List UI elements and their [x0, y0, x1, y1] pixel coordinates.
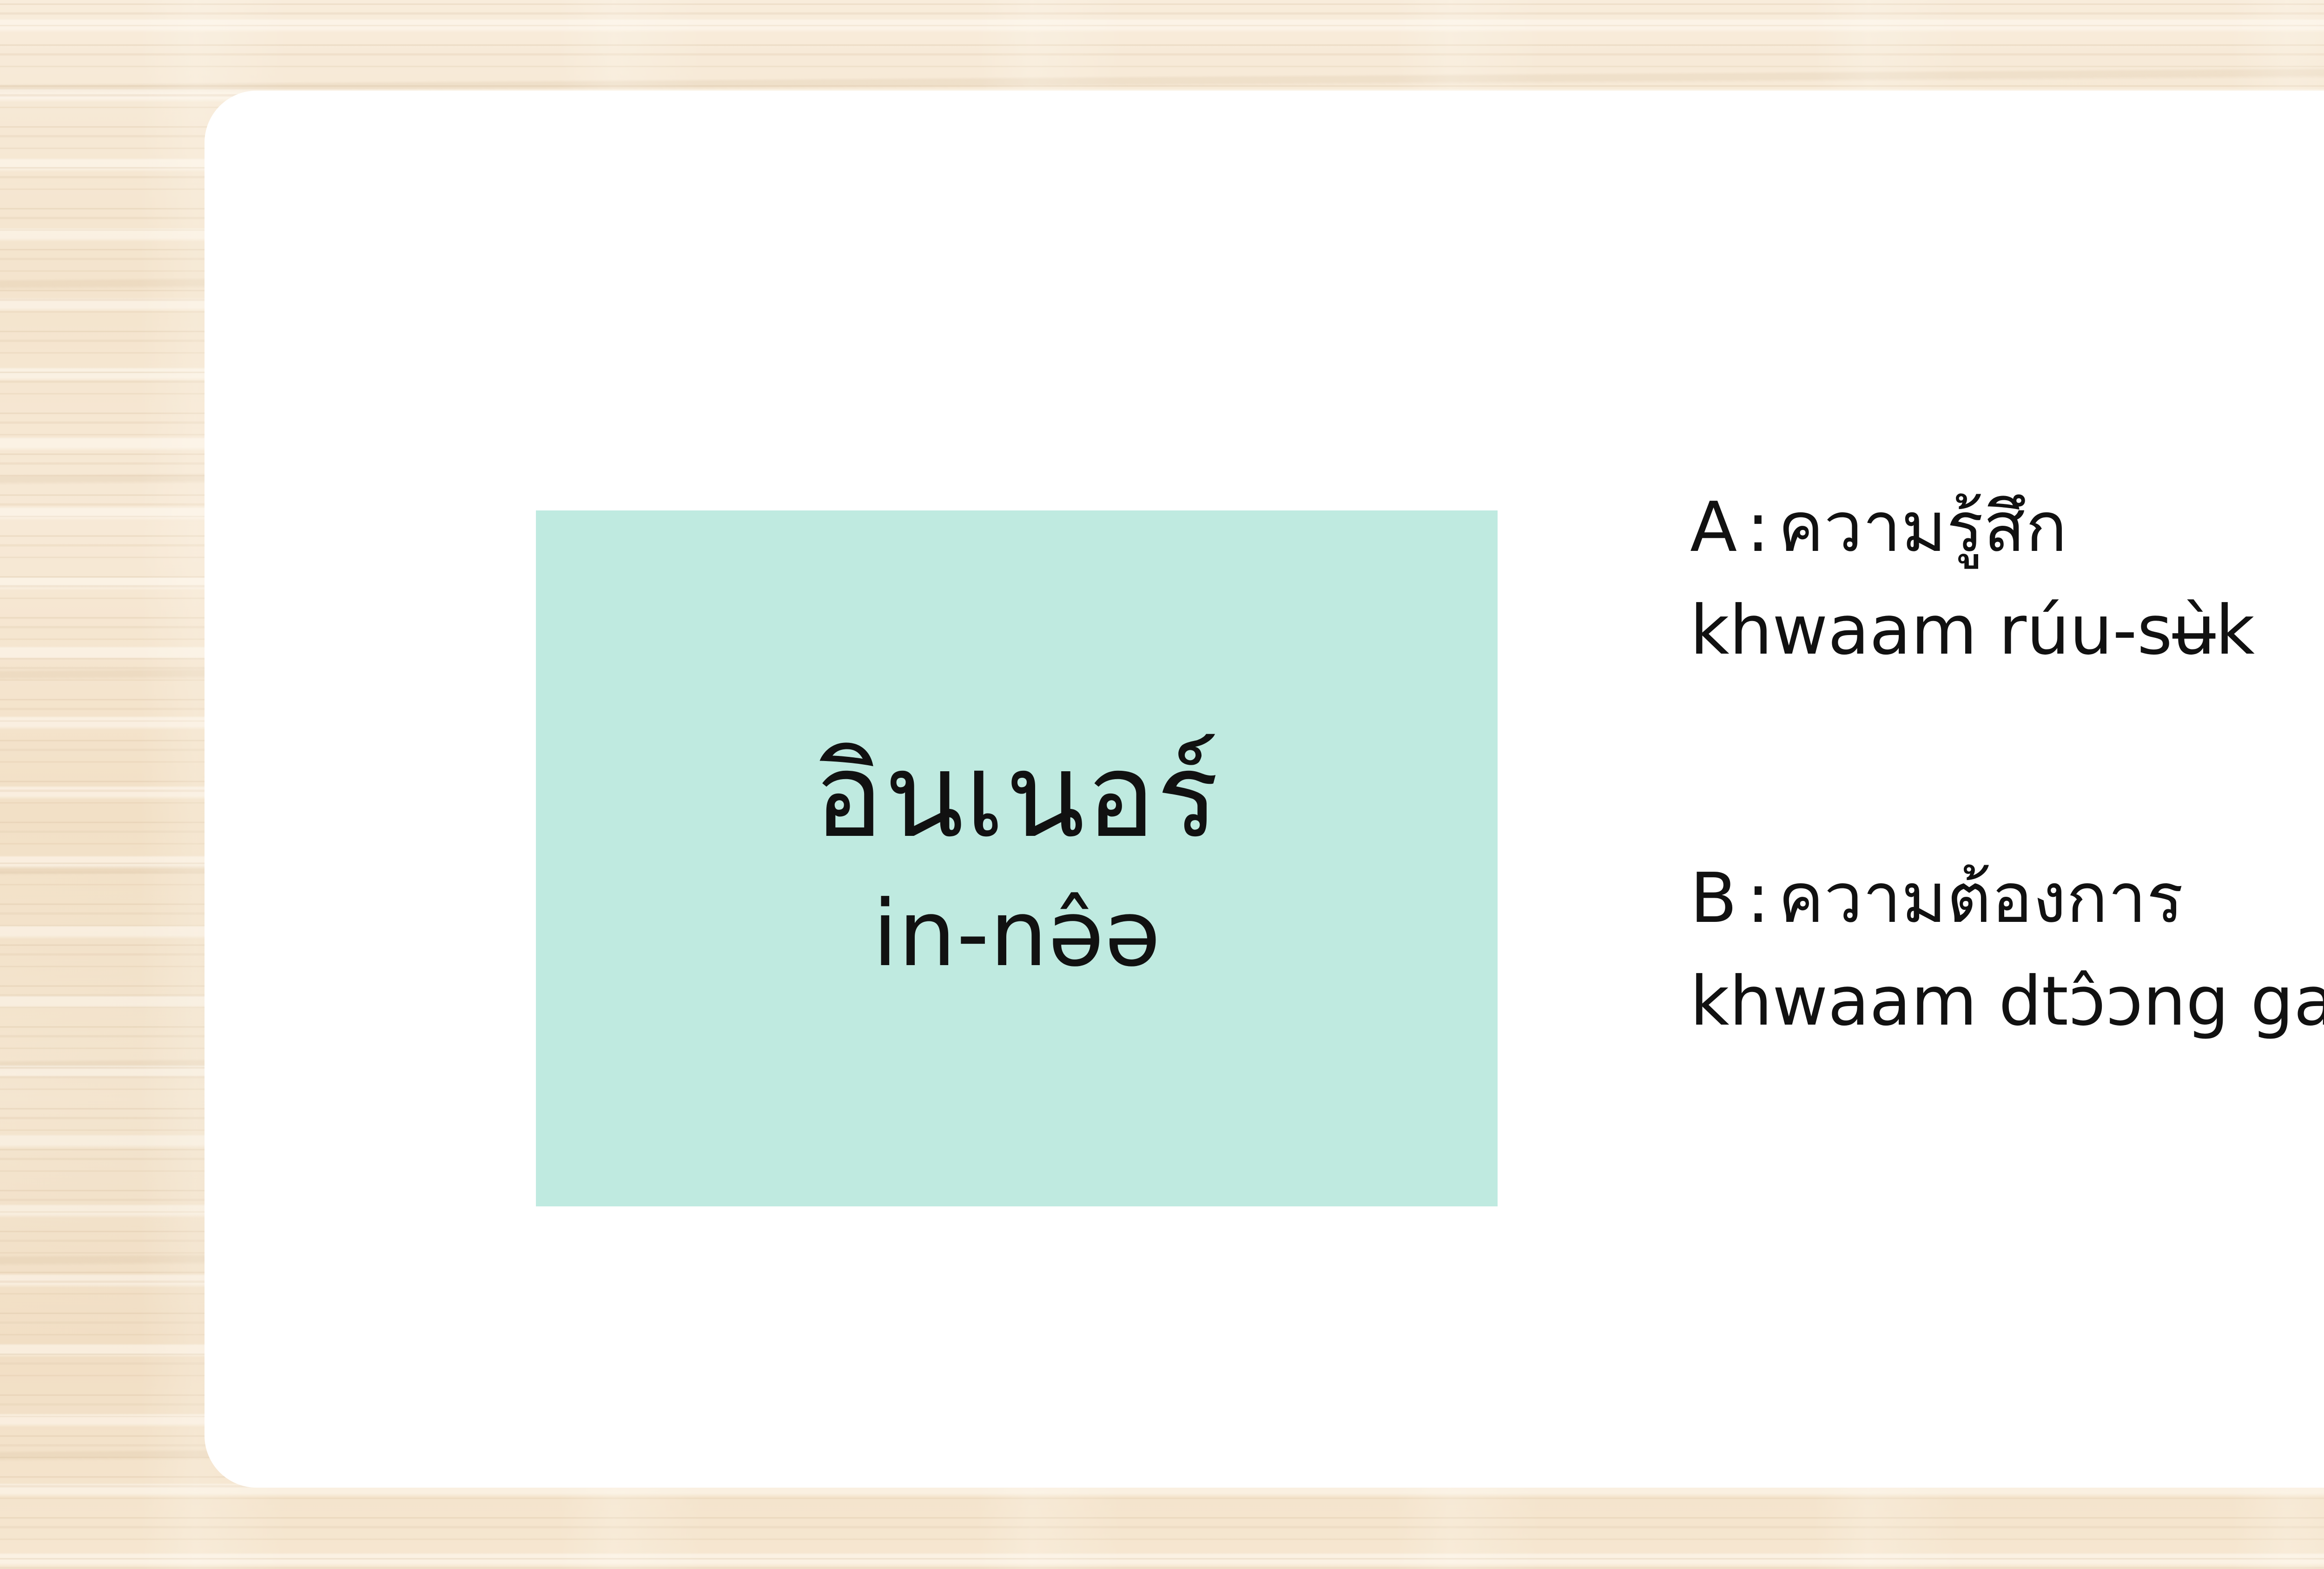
- flashcard-stage: อินเนอร์ in-nə̂ə A:ความรู้สึก khwaam rúu…: [0, 0, 2324, 1569]
- answer-choice-b[interactable]: B:ความต้องการ khwaam dtɔ̂ɔng gaan: [1690, 852, 2324, 1047]
- vocabulary-word-panel: อินเนอร์ in-nə̂ə: [536, 510, 1498, 1206]
- answer-choice-b-thai-line: B:ความต้องการ: [1690, 852, 2324, 944]
- vocabulary-word-romanization: in-nə̂ə: [872, 888, 1161, 980]
- answer-choice-a-key: A: [1690, 487, 1737, 567]
- answer-choice-b-separator: :: [1737, 858, 1778, 938]
- answer-choice-b-thai: ความต้องการ: [1778, 858, 2183, 938]
- answer-choices-list: A:ความรู้สึก khwaam rúu-sʉ̀k B:ความต้องก…: [1690, 481, 2324, 1047]
- flashcard-panel: อินเนอร์ in-nə̂ə A:ความรู้สึก khwaam rúu…: [205, 91, 2324, 1488]
- answer-choice-a-thai-line: A:ความรู้สึก: [1690, 481, 2324, 573]
- answer-choice-a[interactable]: A:ความรู้สึก khwaam rúu-sʉ̀k: [1690, 481, 2324, 676]
- answer-choice-a-separator: :: [1737, 487, 1778, 567]
- answer-choice-a-romanization: khwaam rúu-sʉ̀k: [1690, 585, 2324, 676]
- vocabulary-word-thai: อินเนอร์: [814, 738, 1220, 854]
- answer-choice-a-thai: ความรู้สึก: [1778, 487, 2067, 567]
- answer-choice-b-key: B: [1690, 858, 1737, 938]
- answer-choice-b-romanization: khwaam dtɔ̂ɔng gaan: [1690, 956, 2324, 1047]
